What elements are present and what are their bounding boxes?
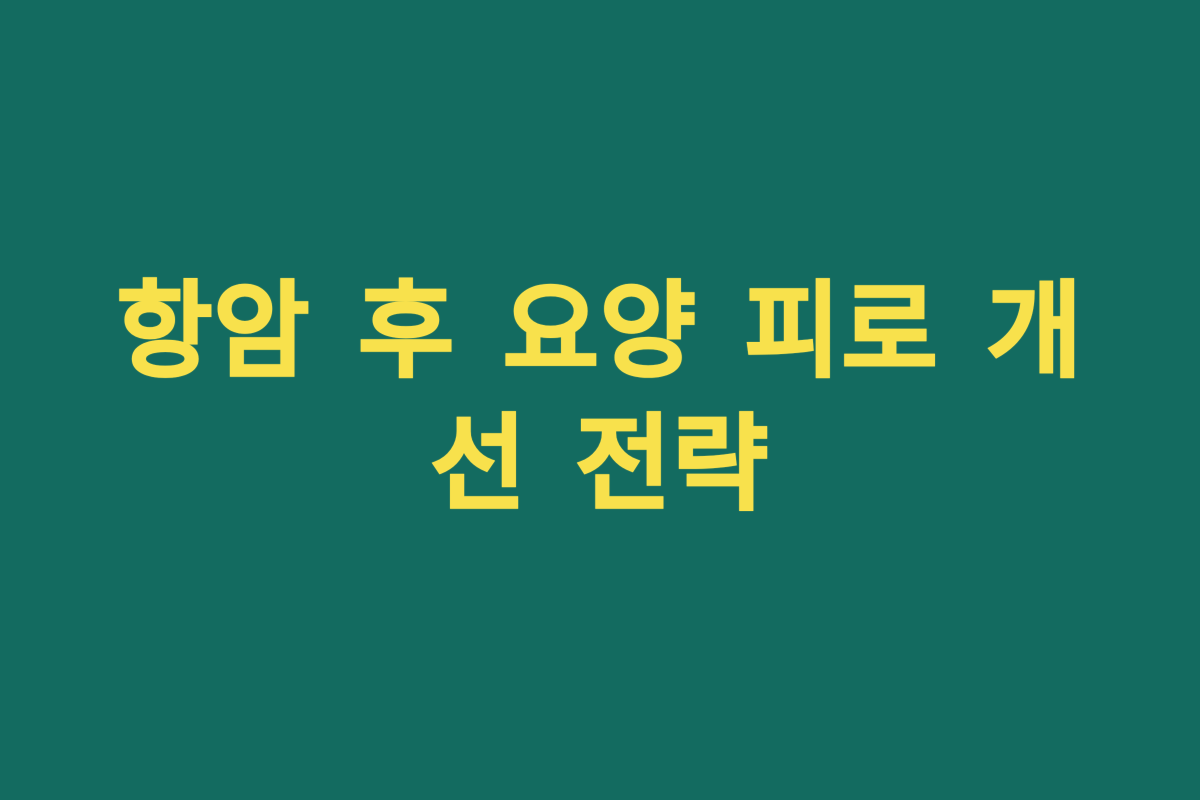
title-slide: 항암 후 요양 피로 개선 전략 <box>0 0 1200 800</box>
title-block: 항암 후 요양 피로 개선 전략 <box>95 265 1105 531</box>
page-title: 항암 후 요양 피로 개선 전략 <box>95 265 1105 531</box>
